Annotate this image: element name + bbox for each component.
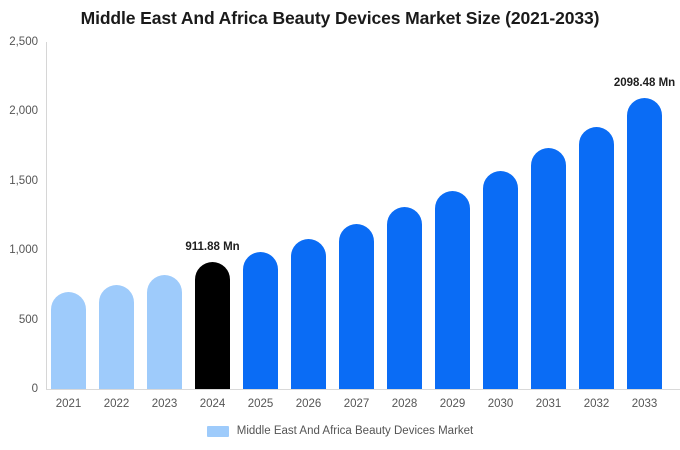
y-axis-tick-label: 2,500 [0, 36, 38, 48]
x-axis-tick-label-2023: 2023 [152, 398, 178, 410]
legend-swatch [207, 426, 229, 437]
x-axis-tick-label-2032: 2032 [584, 398, 610, 410]
bar-2033[interactable] [627, 98, 662, 389]
bar-2030[interactable] [483, 171, 518, 389]
bar-2023[interactable] [147, 275, 182, 389]
bar-2025[interactable] [243, 252, 278, 389]
x-axis-tick-label-2033: 2033 [632, 398, 658, 410]
bar-value-label-2024: 911.88 Mn [185, 241, 239, 253]
bar-2024[interactable] [195, 262, 230, 389]
y-axis-tick-label: 1,500 [0, 175, 38, 187]
x-axis-tick-label-2028: 2028 [392, 398, 418, 410]
y-axis-tick-label: 1,000 [0, 244, 38, 256]
x-axis-tick-label-2030: 2030 [488, 398, 514, 410]
bar-value-label-2033: 2098.48 Mn [614, 77, 675, 89]
y-axis-tick-label: 500 [0, 314, 38, 326]
y-axis-tick-label: 2,000 [0, 105, 38, 117]
y-axis-line [46, 42, 47, 389]
chart-legend[interactable]: Middle East And Africa Beauty Devices Ma… [0, 425, 680, 437]
x-axis-tick-label-2031: 2031 [536, 398, 562, 410]
x-axis-tick-label-2029: 2029 [440, 398, 466, 410]
x-axis-tick-label-2027: 2027 [344, 398, 370, 410]
bar-chart: Middle East And Africa Beauty Devices Ma… [0, 0, 680, 450]
bar-2032[interactable] [579, 127, 614, 389]
bar-2029[interactable] [435, 191, 470, 389]
bar-2022[interactable] [99, 285, 134, 389]
y-axis-tick-label: 0 [0, 383, 38, 395]
legend-label: Middle East And Africa Beauty Devices Ma… [237, 425, 474, 437]
x-axis-tick-label-2021: 2021 [56, 398, 82, 410]
chart-title: Middle East And Africa Beauty Devices Ma… [0, 8, 680, 29]
x-axis-tick-label-2024: 2024 [200, 398, 226, 410]
x-axis-tick-label-2022: 2022 [104, 398, 130, 410]
x-axis-line [46, 389, 680, 390]
bar-2028[interactable] [387, 207, 422, 389]
bar-2026[interactable] [291, 239, 326, 389]
bar-2021[interactable] [51, 292, 86, 389]
bar-2027[interactable] [339, 224, 374, 389]
bar-2031[interactable] [531, 148, 566, 389]
x-axis-tick-label-2025: 2025 [248, 398, 274, 410]
x-axis-tick-label-2026: 2026 [296, 398, 322, 410]
